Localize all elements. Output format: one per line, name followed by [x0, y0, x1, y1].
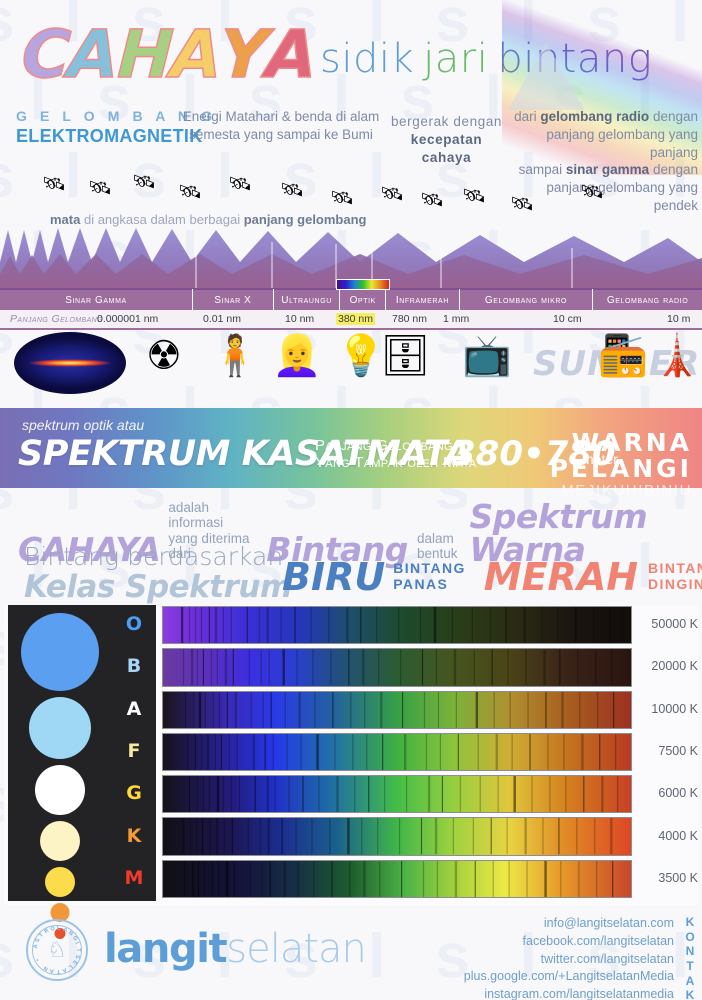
satellite-icon: 🛰 [228, 172, 252, 196]
statement-merah: MERAH [484, 558, 638, 596]
horse-rider-seal-icon: ♘ [47, 937, 67, 963]
satellites-caption-rest: di angkasa dalam berbagai [80, 212, 243, 227]
temperature-label-K: 4000 K [636, 829, 698, 843]
statement-row-2: Bintang berdasarkan Kelas Spektrum [24, 544, 292, 603]
rocket-icon: 🛰 [510, 192, 534, 216]
source-glyph: 💡 [336, 336, 386, 376]
em-band-label: Gelombang radio [607, 295, 688, 306]
title-letter-1: A [67, 22, 120, 88]
em-band-ultraungu: Ultraungu [274, 289, 341, 311]
warna-line1: WARNA [550, 430, 692, 456]
satellites-row: mata di angkasa dalam berbagai panjang g… [0, 170, 702, 240]
wavelength-value: 0.01 nm [203, 313, 241, 325]
star-disc-B [29, 697, 91, 759]
em-band-sinar-x: Sinar X [193, 289, 274, 311]
statement-bintang-berdasarkan: Bintang berdasarkan [24, 544, 292, 569]
sun-uv-woman-icon: 👱‍♀️ [272, 336, 322, 376]
spectrum-strip-G [162, 775, 632, 813]
bintang-dingin-line2: DINGIN [648, 576, 702, 592]
spectral-class-K: K [112, 825, 156, 847]
sources-row: SUMBER ☢🧍👱‍♀️💡🗄📺📱📻🗼 [0, 330, 702, 406]
statement-kelas-spektrum: Kelas Spektrum [24, 572, 292, 603]
intro-text-energy: Energi Matahari & benda di alam semesta … [176, 108, 386, 144]
probe-icon: 🛰 [380, 182, 404, 206]
spectra-column [162, 605, 632, 901]
source-glyph: 👱‍♀️ [272, 336, 322, 376]
lens-icon: 🛰 [462, 184, 486, 208]
warna-line2: PELANGI [550, 456, 692, 482]
observatory-icon: 🛰 [280, 178, 304, 202]
warna-mnemonic: MEJIKUHIBINIU [550, 482, 692, 499]
spectral-class-column: OBAFGKM [112, 605, 156, 901]
em-band-optik: Optik [340, 289, 386, 311]
antenna-tower-icon: 🗼 [652, 336, 702, 376]
satellite-icon: 🛰 [42, 172, 66, 196]
wavelength-value: 1 mm [443, 313, 469, 325]
spectral-class-O: O [112, 613, 156, 635]
space-telescope-icon: 🛰 [330, 186, 354, 210]
source-glyph: ☢ [146, 336, 182, 376]
star-size-column [8, 605, 112, 901]
title-letter-3: A [169, 22, 222, 88]
kontak-letter: O [682, 930, 698, 945]
intro-range-1a: dari [514, 109, 540, 124]
wavelength-scale-row: Panjang Gelombang 0.000001 nm0.01 nm10 n… [0, 310, 702, 330]
intro-speed-bold: kecepatan cahaya [411, 132, 482, 165]
star-disc-F [40, 821, 80, 861]
infographic-page: slslslslslslslslslslslslslslslslslslslsl… [0, 0, 702, 1000]
chart-dark-panel: OBAFGKM [8, 605, 156, 901]
wavelength-value: 10 nm [285, 313, 314, 325]
satellites-caption: mata di angkasa dalam berbagai panjang g… [50, 212, 367, 227]
telescope-icon: 🛰 [132, 170, 156, 194]
stellar-spectra-chart: OBAFGKM 50000 K20000 K10000 K7500 K6000 … [4, 605, 698, 905]
title-letter-2: H [116, 22, 173, 88]
heater-icon: 🗄 [380, 336, 431, 376]
spectrum-strip-A [162, 691, 632, 729]
kontak-letter: A [682, 974, 698, 989]
statement-dalam: dalam [417, 531, 454, 546]
temperature-label-M: 3500 K [636, 871, 698, 885]
logo-light-part: selatan [226, 926, 366, 972]
radio-receiver-icon: 📻 [598, 336, 648, 376]
gamma-sky-map-icon [14, 332, 126, 394]
spectral-class-M: M [112, 867, 156, 889]
temperature-label-G: 6000 K [636, 786, 698, 800]
intro-speed-plain: bergerak dengan [391, 114, 502, 129]
seal-inner-circle: ♘ [32, 925, 82, 975]
spectral-class-B: B [112, 655, 156, 677]
temperature-label-O: 50000 K [636, 617, 698, 631]
spectrum-strip-O [162, 606, 632, 644]
source-glyph: 📺 [462, 336, 512, 376]
bintang-dingin-line1: BINTANG [648, 560, 702, 576]
spectrum-strip-M [162, 860, 632, 898]
statement-section: CAHAYA adalah informasi yang diterima da… [0, 496, 702, 596]
statement-dalam-bentuk: dalam bentuk [417, 531, 458, 562]
source-glyph: 🗼 [652, 336, 702, 376]
spectral-class-F: F [112, 740, 156, 762]
temperature-label-F: 7500 K [636, 744, 698, 758]
kontak-letter: T [682, 959, 698, 974]
intro-range-1b: gelombang radio [540, 109, 649, 124]
star-disc-O [21, 613, 99, 691]
page-title: CAHAYA [22, 22, 315, 88]
langitselatan-wordmark: langitselatan [104, 929, 366, 969]
microwave-oven-icon: 📺 [462, 336, 512, 376]
spectrum-strip-B [162, 648, 632, 686]
bintang-panas-line1: BINTANG [393, 560, 466, 576]
spectral-class-G: G [112, 782, 156, 804]
wavelength-value: 380 nm [336, 313, 375, 325]
em-band-label: Ultraungu [281, 295, 332, 306]
em-band-sinar-gamma: Sinar Gamma [0, 289, 193, 311]
wavelength-value: 10 m [667, 313, 690, 325]
em-band-gelombang-mikro: Gelombang mikro [460, 289, 593, 311]
title-letter-5: A [264, 22, 317, 88]
xray-person-icon: 🧍 [210, 336, 260, 376]
langitselatan-seal-logo: LANGITSELATAN • ASTRO ♘ [26, 919, 88, 981]
star-disc-A [35, 765, 85, 815]
statement-biru: BIRU [282, 558, 385, 596]
em-band-label: Sinar Gamma [65, 295, 127, 306]
footer: LANGITSELATAN • ASTRO ♘ langitselatan in… [0, 905, 702, 1000]
em-band-label: Gelombang mikro [485, 295, 567, 306]
em-band-gelombang-radio: Gelombang radio [593, 289, 702, 311]
statement-bintang-dingin: BINTANG DINGIN [648, 560, 702, 593]
module-icon: 🛰 [420, 188, 444, 212]
contact-line[interactable]: facebook.com/langitselatan [464, 933, 674, 951]
kontak-letter: K [682, 988, 698, 1000]
wavelength-value: 780 nm [392, 313, 427, 325]
spectrum-strip-F [162, 733, 632, 771]
intro-text-speed: bergerak dengan kecepatan cahaya [384, 113, 509, 166]
contact-line[interactable]: plus.google.com/+LangitselatanMedia [464, 968, 674, 986]
optical-rainbow-icon [336, 279, 390, 290]
source-glyph: 🧍 [210, 336, 260, 376]
wavelength-value: 0.000001 nm [97, 313, 158, 325]
statement-bintang-panas: BINTANG PANAS [393, 560, 466, 593]
em-band-label: Inframerah [396, 295, 449, 306]
spectral-class-A: A [112, 698, 156, 720]
kontak-letter: N [682, 944, 698, 959]
wavelength-value: 10 cm [553, 313, 582, 325]
subtitle-word-2: jari [423, 36, 488, 82]
title-letter-4: Y [218, 22, 267, 88]
contact-list: info@langitselatan.comfacebook.com/langi… [464, 915, 674, 1000]
temperature-label-B: 20000 K [636, 659, 698, 673]
visible-pg-line1: Panjang Gelombang [315, 437, 453, 454]
logo-bold-part: langit [104, 926, 226, 972]
wavelength-row-title: Panjang Gelombang [10, 313, 103, 325]
star-disc-G [45, 867, 75, 897]
satellite-icon: 🛰 [178, 180, 202, 204]
spectrum-strip-K [162, 817, 632, 855]
bintang-panas-line2: PANAS [393, 576, 448, 592]
satellites-caption-bold2: panjang gelombang [244, 212, 367, 227]
header: CAHAYA sidik jari bintang [0, 0, 702, 100]
visible-small-line: spektrum optik atau [22, 417, 144, 433]
intro-range-2: panjang gelombang yang panjang [546, 127, 698, 160]
em-band-inframerah: Inframerah [386, 289, 460, 311]
subtitle-word-1: sidik [320, 36, 414, 82]
em-band-label: Optik [350, 295, 376, 306]
dish-antenna-icon: 🛰 [580, 180, 604, 204]
satellite-icon: 🛰 [88, 176, 112, 200]
light-bulb-icon: 💡 [336, 336, 386, 376]
statement-row-3: BIRU BINTANG PANAS MERAH BINTANG DINGIN [282, 558, 702, 596]
contact-line[interactable]: info@langitselatan.com [464, 915, 674, 933]
contact-line[interactable]: twitter.com/langitselatan [464, 951, 674, 969]
rainbow-colors-label: WARNA PELANGI MEJIKUHIBINIU [550, 430, 692, 499]
satellites-caption-bold: mata [50, 212, 80, 227]
statement-adalah-line1: adalah informasi [168, 500, 223, 530]
contact-line[interactable]: instagram.com/langitselatanmedia [464, 986, 674, 1000]
em-band-label: Sinar X [214, 295, 251, 306]
title-letter-0: C [20, 22, 70, 88]
em-spectrum-bands: Sinar GammaSinar XUltraunguOptikInframer… [0, 288, 702, 310]
kontak-letter: K [682, 915, 698, 930]
visible-spectrum-banner: spektrum optik atau SPEKTRUM KASATMATA P… [0, 408, 702, 488]
source-glyph: 🗄 [380, 336, 431, 376]
source-glyph: 📻 [598, 336, 648, 376]
intro-range-1c: dengan [649, 109, 698, 124]
radioactive-sign-icon: ☢ [146, 336, 182, 376]
temperature-label-A: 10000 K [636, 702, 698, 716]
kontak-vertical-label: KONTAK [682, 915, 698, 1000]
